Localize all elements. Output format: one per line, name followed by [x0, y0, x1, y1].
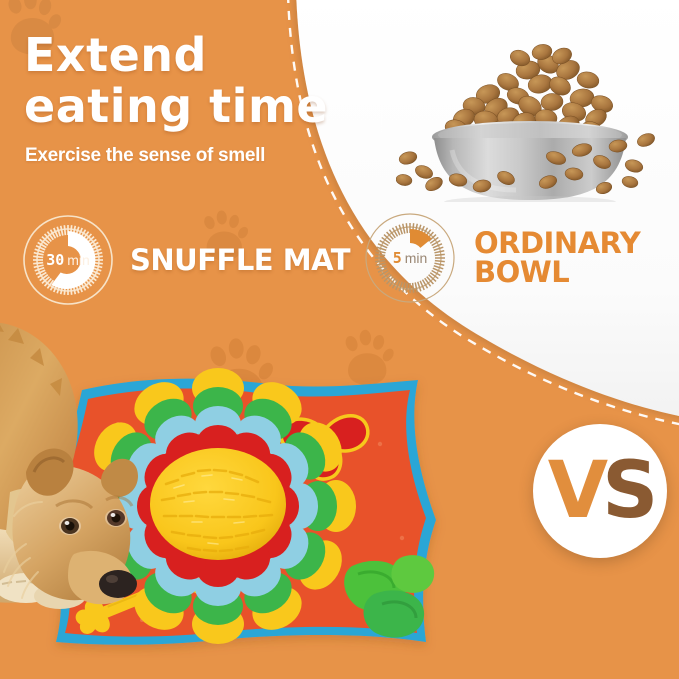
timer-dial-5min: 5 min	[362, 210, 458, 306]
leaf-appliques	[344, 555, 434, 637]
ordinary-bowl-image	[396, 22, 664, 202]
timer-unit: min	[67, 252, 90, 268]
butterfly-applique	[281, 412, 372, 483]
headline-line-2: eating time	[24, 83, 354, 130]
timer-dial-label: 30 min	[20, 212, 116, 308]
ordinary-bowl-title-line-2: BOWL	[474, 258, 640, 287]
comparison-snuffle-mat: 30 min SNUFFLE MAT	[20, 212, 350, 308]
snuffle-mat-image	[22, 358, 460, 658]
paw-print-watermark	[336, 328, 396, 388]
headline-subtitle: Exercise the sense of smell	[25, 145, 265, 167]
versus-badge: VS	[533, 424, 667, 558]
page-title: Extend eating time	[24, 32, 354, 130]
ordinary-bowl-title-line-1: ORDINARY	[474, 229, 640, 258]
timer-dial-30min: 30 min	[20, 212, 116, 308]
headline-line-1: Extend	[24, 32, 354, 79]
versus-text: VS	[548, 452, 653, 530]
versus-s: S	[602, 446, 652, 536]
promo-image-root: Extend eating time Exercise the sense of…	[0, 0, 679, 679]
paw-print-watermark	[198, 336, 276, 414]
dog-image	[0, 296, 172, 626]
ordinary-bowl-title: ORDINARY BOWL	[474, 229, 640, 287]
flower-petal-rings	[80, 368, 356, 644]
bone-applique	[71, 552, 222, 640]
comparison-ordinary-bowl: 5 min ORDINARY BOWL	[362, 210, 640, 306]
timer-unit: min	[405, 250, 428, 266]
timer-value: 30	[46, 251, 64, 269]
timer-dial-label: 5 min	[362, 210, 458, 306]
snuffle-mat-title: SNUFFLE MAT	[130, 246, 350, 275]
timer-value: 5	[393, 249, 402, 267]
versus-v: V	[548, 446, 602, 536]
